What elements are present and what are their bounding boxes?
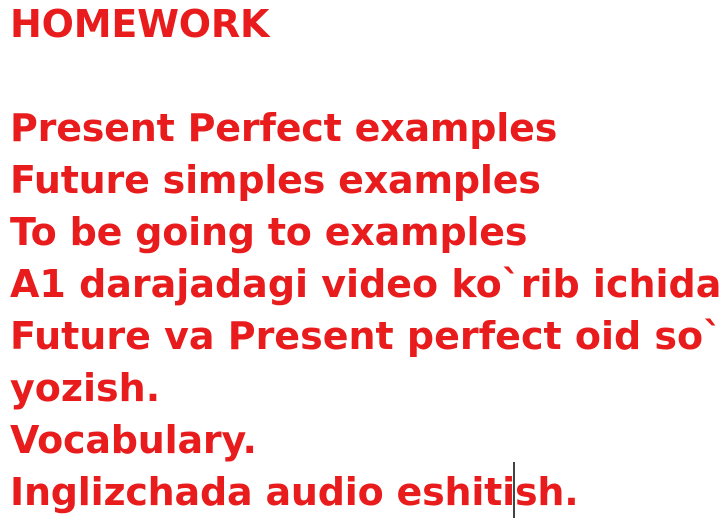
task-line-present-perfect: Present Perfect examples (10, 102, 714, 154)
task-paragraph-line-1: A1 darajadagi video ko`rib ichidan (10, 258, 712, 310)
page-title: HOMEWORK (10, 0, 714, 50)
text-cursor-caret (513, 462, 515, 518)
slide-canvas: HOMEWORK Present Perfect examples Future… (0, 0, 720, 517)
homework-text-block[interactable]: HOMEWORK Present Perfect examples Future… (10, 0, 714, 518)
task-line-vocabulary: Vocabulary. (10, 414, 714, 466)
task-line-audio: Inglizchada audio eshitish. (10, 466, 714, 518)
task-line-future-simple: Future simples examples (10, 154, 714, 206)
blank-line-separator (10, 50, 714, 102)
task-paragraph-video: A1 darajadagi video ko`rib ichidan Futur… (10, 258, 712, 414)
task-paragraph-line-3: yozish. (10, 362, 712, 414)
task-paragraph-line-2: Future va Present perfect oid so`zlar (10, 310, 712, 362)
task-line-going-to: To be going to examples (10, 206, 714, 258)
